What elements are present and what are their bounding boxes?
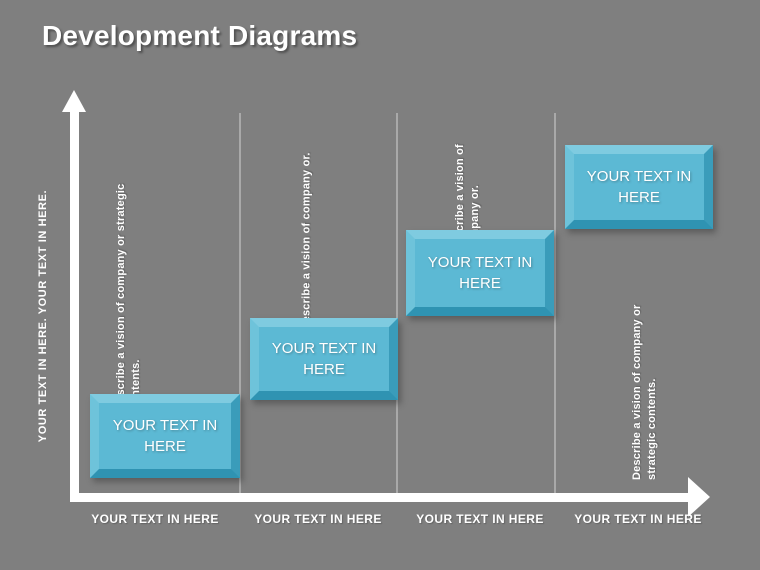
- arrow-up-icon: [62, 90, 86, 112]
- step-box-2-label-line2: HERE: [303, 361, 345, 378]
- step-description-4: Describe a vision of company or strategi…: [630, 270, 660, 480]
- page-title: Development Diagrams: [42, 20, 357, 52]
- step-box-1[interactable]: YOUR TEXT IN HERE: [90, 394, 240, 478]
- step-description-2: Describe a vision of company or.: [300, 121, 315, 331]
- step-box-4-label-line1: YOUR TEXT IN: [587, 168, 691, 185]
- step-box-4[interactable]: YOUR TEXT IN HERE: [565, 145, 713, 229]
- step-box-2-label-line1: YOUR TEXT IN: [272, 340, 376, 357]
- step-box-2[interactable]: YOUR TEXT IN HERE: [250, 318, 398, 400]
- y-axis-label: YOUR TEXT IN HERE. YOUR TEXT IN HERE.: [37, 166, 49, 466]
- step-box-1-label-line1: YOUR TEXT IN: [113, 417, 217, 434]
- x-axis-category-3: YOUR TEXT IN HERE: [400, 512, 560, 526]
- x-axis-category-4: YOUR TEXT IN HERE: [558, 512, 718, 526]
- step-description-4-line1: Describe a vision of company or: [631, 304, 643, 480]
- step-box-3[interactable]: YOUR TEXT IN HERE: [406, 230, 554, 316]
- step-description-2-line1: Describe a vision of company or.: [301, 152, 313, 330]
- column-separator-2: [396, 113, 398, 493]
- step-box-1-label-line2: HERE: [144, 438, 186, 455]
- step-description-1: Describe a vision of company or strategi…: [114, 130, 144, 410]
- x-axis-category-2: YOUR TEXT IN HERE: [238, 512, 398, 526]
- step-box-4-label: YOUR TEXT IN HERE: [583, 166, 695, 208]
- step-box-4-label-line2: HERE: [618, 189, 660, 206]
- slide-canvas: Development Diagrams YOUR TEXT IN HERE. …: [0, 0, 760, 570]
- x-axis-line: [70, 493, 692, 502]
- column-separator-3: [554, 113, 556, 493]
- step-description-1-line1: Describe a vision of company or strategi…: [115, 184, 127, 410]
- step-box-2-label: YOUR TEXT IN HERE: [268, 338, 380, 380]
- x-axis-category-1: YOUR TEXT IN HERE: [75, 512, 235, 526]
- y-axis-line: [70, 110, 79, 502]
- arrow-right-icon: [688, 477, 710, 517]
- step-box-3-label-line1: YOUR TEXT IN: [428, 254, 532, 271]
- step-box-3-label-line2: HERE: [459, 275, 501, 292]
- step-description-4-line2: strategic contents.: [646, 378, 658, 480]
- step-box-1-label: YOUR TEXT IN HERE: [109, 415, 221, 457]
- step-box-3-label: YOUR TEXT IN HERE: [424, 252, 536, 294]
